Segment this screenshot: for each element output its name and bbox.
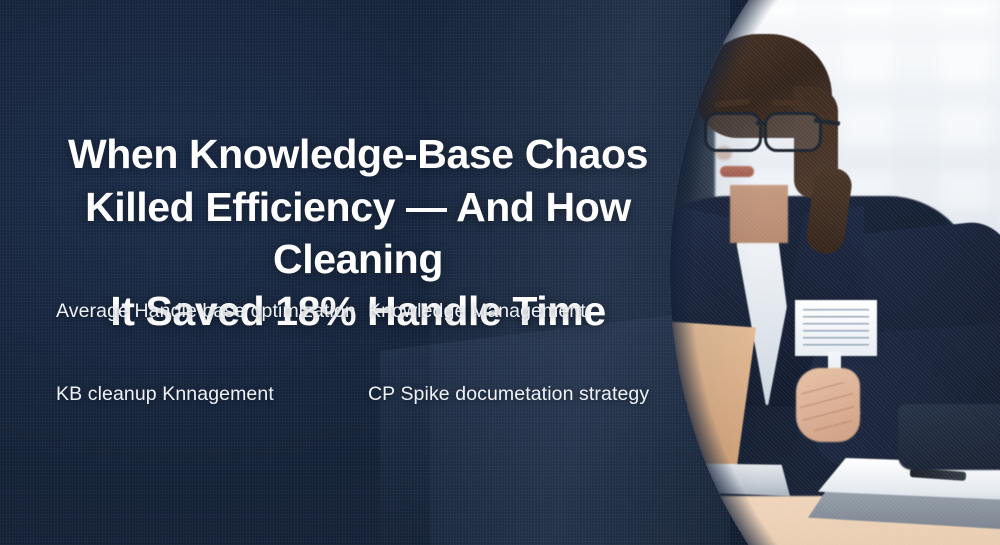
topic-tag-grid: Average Handle base optimization Knowled… (56, 298, 656, 408)
topic-tag: Average Handle base optimization (56, 298, 368, 325)
monitor-back (898, 404, 1000, 470)
topic-row: KB cleanup Knnagement CP Spike documetat… (56, 381, 656, 408)
eyeglasses-icon (702, 112, 830, 146)
glasses-lens-left (704, 112, 762, 152)
hero-banner: When Knowledge-Base Chaos Killed Efficie… (0, 0, 1000, 545)
person-lips (720, 166, 754, 177)
glasses-bridge (756, 121, 766, 125)
topic-row: Average Handle base optimization Knowled… (56, 298, 656, 325)
topic-tag: Knowledge Management (368, 298, 656, 325)
topic-tag: CP Spike documetation strategy (368, 381, 656, 408)
person-fingers (800, 380, 854, 432)
topic-tag: KB cleanup Knnagement (56, 381, 368, 408)
printed-note (795, 300, 877, 356)
